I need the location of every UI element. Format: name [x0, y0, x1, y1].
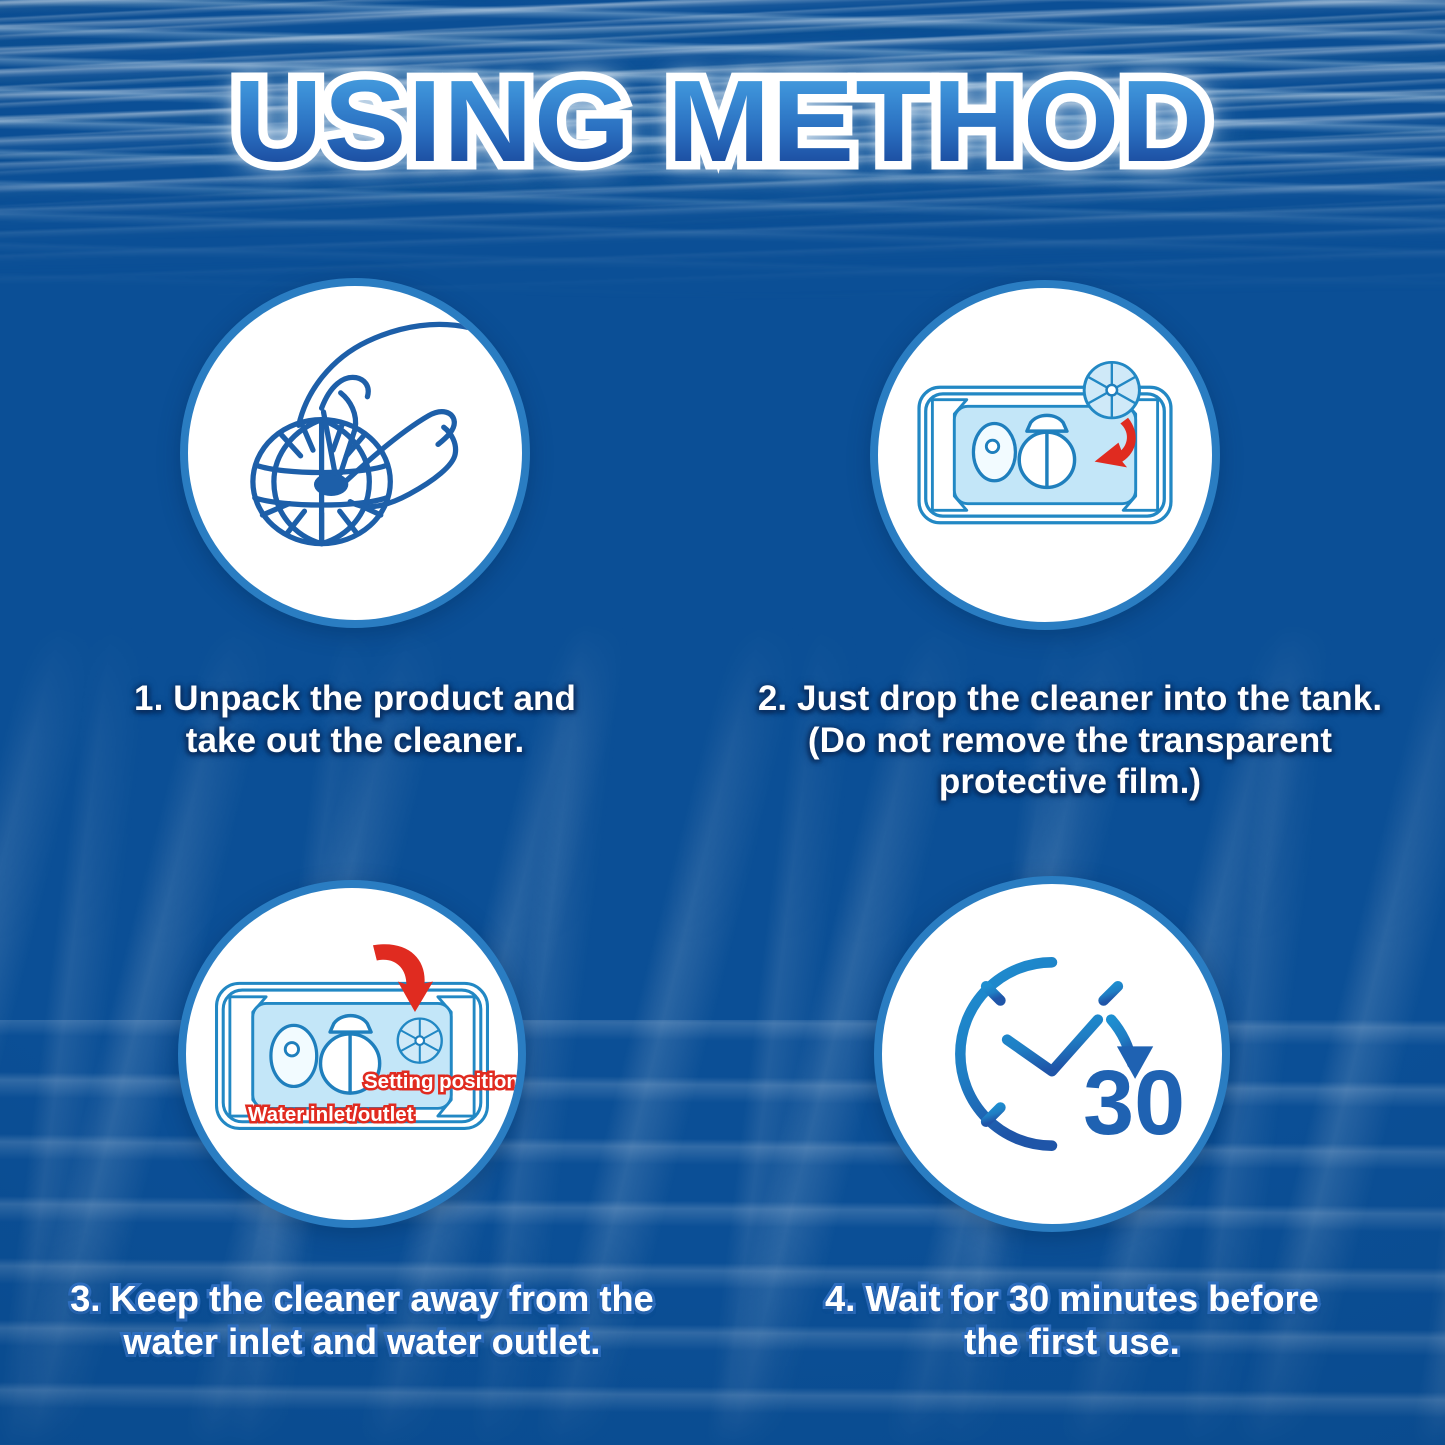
setting-position-label: Setting position: [364, 1070, 519, 1094]
page-title-wrap: USING METHOD USING METHOD: [0, 62, 1445, 180]
toilet-tank-setting-position-icon: [186, 880, 518, 1228]
step-2-caption-line-3: protective film.): [720, 761, 1420, 803]
step-4-caption-line-2: the first use. the first use.: [742, 1321, 1402, 1364]
clock-30-minutes-icon: 30: [882, 876, 1222, 1232]
step-2-icon-circle: [870, 280, 1220, 630]
step-3-caption-line-1: 3. Keep the cleaner away from the 3. Kee…: [22, 1278, 702, 1321]
page-title-fill: USING METHOD: [233, 62, 1211, 180]
step-3-caption-line-2: water inlet and water outlet. water inle…: [22, 1321, 702, 1364]
water-inlet-outlet-label: Water inlet/outlet: [248, 1103, 414, 1127]
step-3-caption-line-1-fill: 3. Keep the cleaner away from the: [22, 1278, 702, 1321]
step-3-icon-circle: Setting position Water inlet/outlet: [178, 880, 526, 1228]
page-title: USING METHOD USING METHOD: [233, 62, 1211, 180]
clock-minutes-value: 30: [1083, 1052, 1185, 1154]
step-3-caption-line-2-fill: water inlet and water outlet.: [22, 1321, 702, 1364]
step-1-icon-circle: [180, 278, 530, 628]
step-4-caption-line-1-fill: 4. Wait for 30 minutes before: [742, 1278, 1402, 1321]
red-arrow-icon: [373, 944, 433, 1012]
step-1-caption-line-1: 1. Unpack the product and: [60, 678, 650, 720]
step-4-icon-circle: 30: [874, 876, 1230, 1232]
step-2-caption-line-2: (Do not remove the transparent: [720, 720, 1420, 762]
step-4-caption: 4. Wait for 30 minutes before 4. Wait fo…: [742, 1278, 1402, 1364]
step-2-caption: 2. Just drop the cleaner into the tank. …: [720, 678, 1420, 803]
step-2-caption-line-1: 2. Just drop the cleaner into the tank.: [720, 678, 1420, 720]
step-3-caption: 3. Keep the cleaner away from the 3. Kee…: [22, 1278, 702, 1364]
hand-holding-mesh-ball-icon: [188, 278, 522, 628]
toilet-tank-drop-cleaner-icon: [878, 280, 1212, 630]
step-4-caption-line-2-fill: the first use.: [742, 1321, 1402, 1364]
infographic-page: USING METHOD USING METHOD: [0, 0, 1445, 1445]
step-4-caption-line-1: 4. Wait for 30 minutes before 4. Wait fo…: [742, 1278, 1402, 1321]
step-1-caption: 1. Unpack the product and take out the c…: [60, 678, 650, 761]
step-1-caption-line-2: take out the cleaner.: [60, 720, 650, 762]
